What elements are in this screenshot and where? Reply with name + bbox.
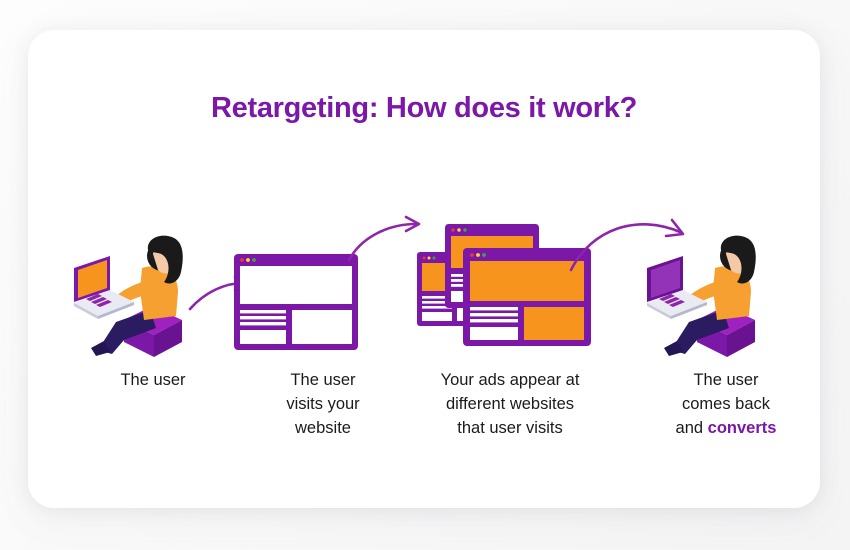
caption-line: visits your (228, 392, 418, 416)
caption-line-prefix: and (676, 419, 708, 437)
step-caption: The user (58, 368, 248, 392)
caption-line: website (228, 416, 418, 440)
step-the-user: The user (58, 210, 248, 460)
caption-line: comes back (631, 392, 821, 416)
person-with-laptop-icon (58, 210, 248, 360)
caption-line: The user (58, 368, 248, 392)
caption-line: that user visits (405, 416, 615, 440)
caption-line: Your ads appear at (405, 368, 615, 392)
step-caption: Your ads appear at different websites th… (405, 368, 615, 440)
browser-window-illustration (228, 210, 418, 360)
person-with-laptop-illustration (631, 210, 821, 360)
converts-highlight: converts (708, 419, 777, 437)
browser-dots (470, 253, 486, 257)
person-with-laptop-icon (631, 210, 821, 360)
browser-window-stack-illustration (413, 210, 603, 360)
infographic-card: Retargeting: How does it work? (28, 30, 820, 508)
step-caption: The user comes back and converts (631, 368, 821, 440)
infographic-canvas: Retargeting: How does it work? (0, 0, 850, 550)
person-with-laptop-illustration (58, 210, 248, 360)
step-ads-appear: Your ads appear at different websites th… (413, 210, 603, 460)
step-caption: The user visits your website (228, 368, 418, 440)
browser-window-icon (228, 210, 418, 360)
caption-line-converts: and converts (631, 416, 821, 440)
browser-window-stack-icon (413, 210, 613, 360)
step-comes-back-and-converts: The user comes back and converts (631, 210, 821, 460)
page-title: Retargeting: How does it work? (28, 92, 820, 125)
caption-line: The user (631, 368, 821, 392)
caption-line: The user (228, 368, 418, 392)
browser-dots (240, 258, 256, 262)
step-visits-your-website: The user visits your website (228, 210, 418, 460)
caption-line: different websites (405, 392, 615, 416)
